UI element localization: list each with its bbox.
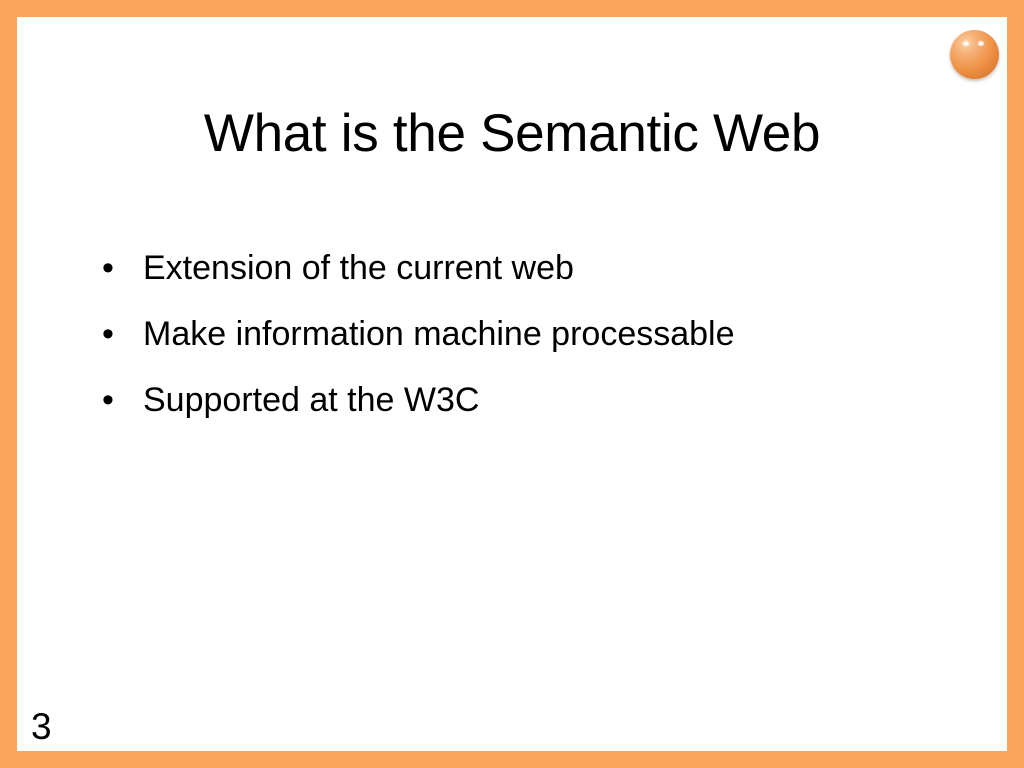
page-title: What is the Semantic Web bbox=[17, 105, 1007, 162]
list-item-label: Extension of the current web bbox=[143, 249, 574, 287]
bullet-point-icon: • bbox=[102, 367, 122, 433]
page-number: 3 bbox=[31, 708, 52, 745]
list-item: • Make information machine processable bbox=[85, 301, 985, 367]
slide-frame: What is the Semantic Web • Extension of … bbox=[0, 0, 1024, 768]
list-item: • Supported at the W3C bbox=[85, 367, 985, 433]
bullet-point-icon: • bbox=[102, 235, 122, 301]
list-item: • Extension of the current web bbox=[85, 235, 985, 301]
list-item-label: Supported at the W3C bbox=[143, 381, 479, 419]
list-item-label: Make information machine processable bbox=[143, 315, 735, 353]
slide-canvas: What is the Semantic Web • Extension of … bbox=[17, 17, 1007, 751]
bullet-list: • Extension of the current web • Make in… bbox=[85, 235, 985, 433]
bullet-point-icon: • bbox=[102, 301, 122, 367]
orange-sphere-icon bbox=[950, 30, 999, 79]
